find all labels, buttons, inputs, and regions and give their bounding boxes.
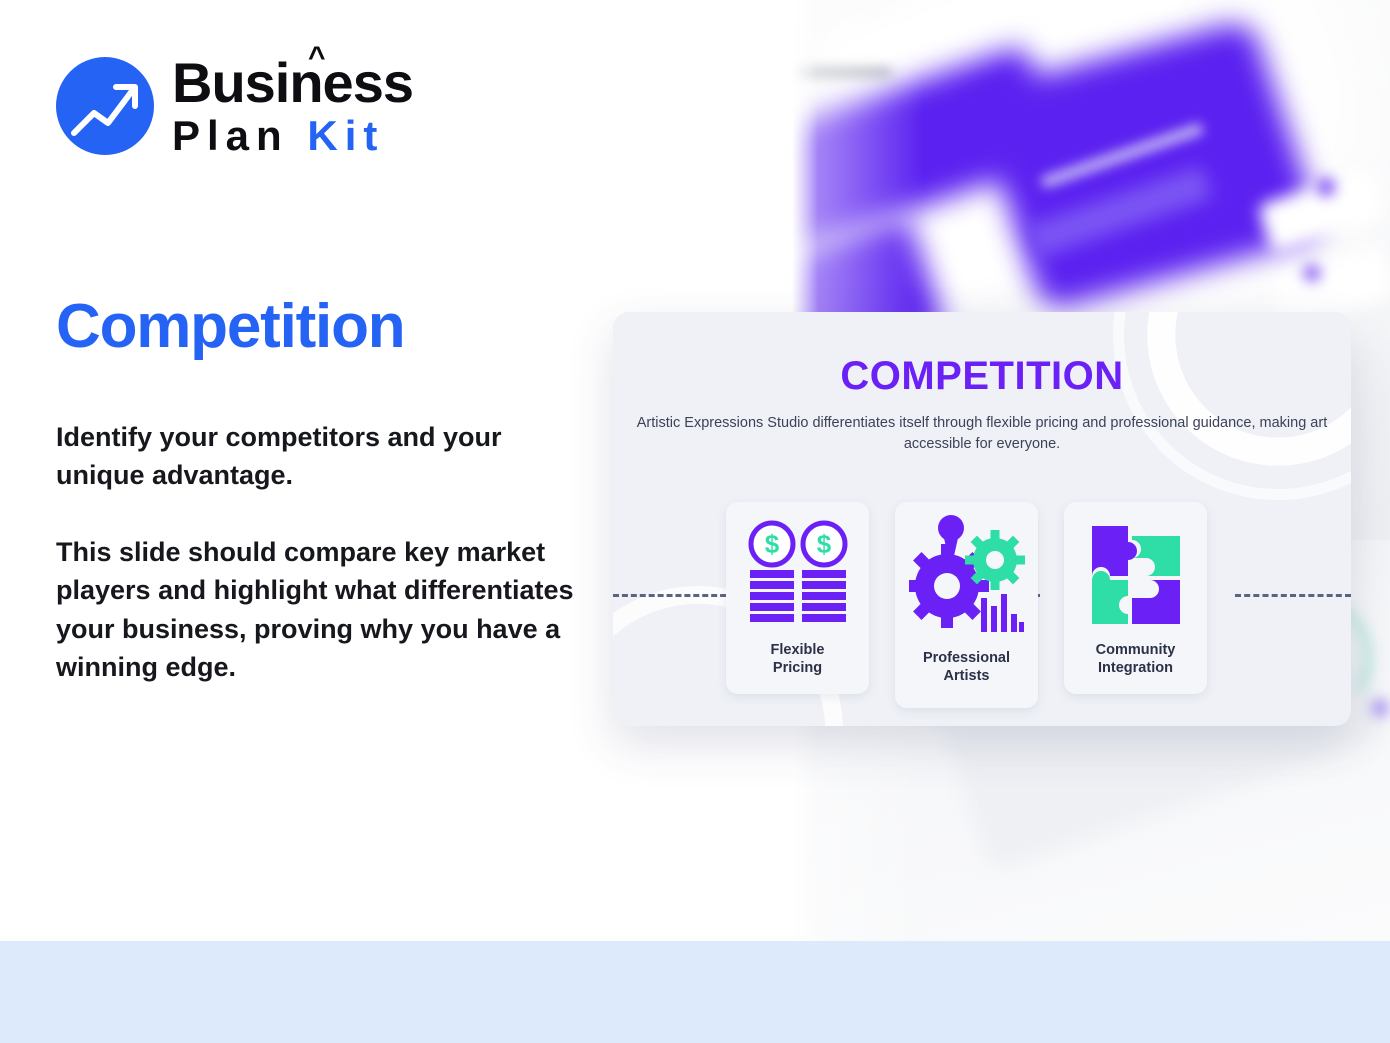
- brand-logo: Business ^ Plan Kit: [56, 55, 413, 157]
- slide-preview-card[interactable]: COMPETITION Artistic Expressions Studio …: [613, 312, 1351, 726]
- slide-subtitle: Artistic Expressions Studio differentiat…: [613, 413, 1351, 456]
- logo-title-line-2: Plan Kit: [172, 115, 413, 157]
- bottom-accent-band: [0, 941, 1390, 1043]
- growth-arrow-circle-icon: [56, 57, 154, 155]
- description-paragraph: This slide should compare key market pla…: [56, 533, 576, 686]
- feature-card-community-integration[interactable]: Community Integration: [1064, 502, 1207, 694]
- feature-card-label: Flexible Pricing: [771, 642, 825, 678]
- puzzle-pieces-icon: [1084, 516, 1188, 636]
- decorative-rings-icon: [1113, 312, 1351, 500]
- intro-paragraph: Identify your competitors and your uniqu…: [56, 418, 576, 495]
- feature-card-list: $ $: [726, 502, 1207, 708]
- page-title: Competition: [56, 296, 404, 358]
- feature-label-line-2: Integration: [1098, 660, 1173, 676]
- feature-card-label: Professional Artists: [923, 650, 1010, 686]
- coin-stacks-icon: $ $: [746, 516, 850, 636]
- gears-lightbulb-chart-icon: [909, 510, 1025, 644]
- slide-title: COMPETITION: [613, 354, 1351, 399]
- connector-dash-right: [1235, 594, 1351, 597]
- feature-label-line-1: Community: [1096, 642, 1176, 658]
- logo-circumflex-icon: ^: [308, 43, 325, 73]
- feature-card-professional-artists[interactable]: Professional Artists: [895, 502, 1038, 708]
- feature-card-flexible-pricing[interactable]: $ $: [726, 502, 869, 694]
- logo-kit-text: Kit: [307, 112, 384, 159]
- feature-label-line-1: Flexible: [771, 642, 825, 658]
- svg-text:$: $: [764, 529, 779, 559]
- svg-text:$: $: [816, 529, 831, 559]
- connector-dash-left: [613, 594, 735, 597]
- feature-label-line-2: Pricing: [773, 660, 822, 676]
- feature-label-line-1: Professional: [923, 650, 1010, 666]
- feature-card-label: Community Integration: [1096, 642, 1176, 678]
- logo-title-text: Business: [172, 51, 413, 114]
- logo-title-line-1: Business ^: [172, 55, 413, 111]
- logo-plan-text: Plan: [172, 112, 289, 159]
- feature-label-line-2: Artists: [944, 668, 990, 684]
